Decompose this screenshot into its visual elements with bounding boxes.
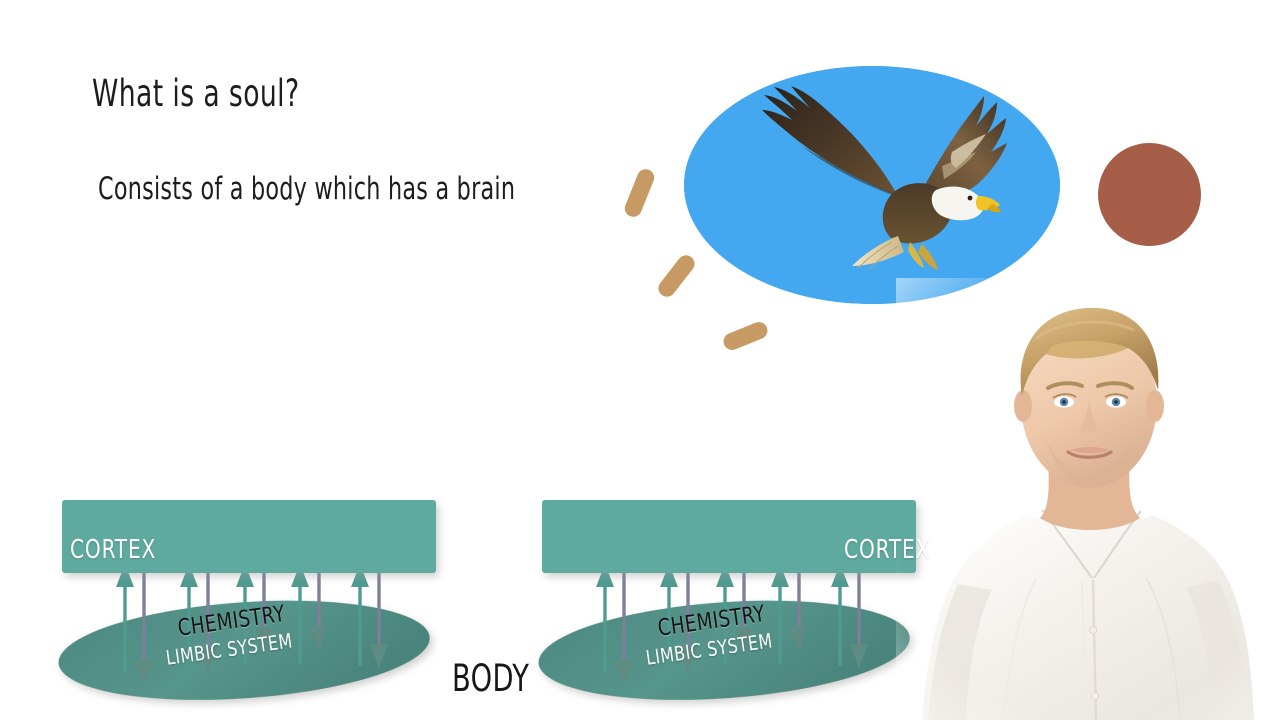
- brown-circle: [1098, 143, 1201, 246]
- thought-dash-icon: [622, 167, 656, 220]
- brain-diagram-right: CORTEX CHEMISTRY LIMBIC SYSTEM: [528, 488, 948, 720]
- thought-dash-icon: [721, 320, 770, 353]
- slide-canvas: What is a soul? Consists of a body which…: [0, 0, 1280, 720]
- eagle-thought-bubble: [684, 66, 1060, 304]
- presenter-photo: [896, 278, 1280, 720]
- presenter-illustration: [896, 278, 1280, 720]
- page-title: What is a soul?: [92, 74, 300, 115]
- eagle-illustration: [684, 66, 1060, 304]
- page-subtitle: Consists of a body which has a brain: [98, 172, 515, 206]
- cortex-label: CORTEX: [70, 535, 156, 565]
- brain-diagram-left: CORTEX CHEMISTRY LIMBIC SYSTEM: [48, 488, 468, 720]
- body-label: BODY: [452, 657, 529, 700]
- thought-dash-icon: [655, 252, 698, 300]
